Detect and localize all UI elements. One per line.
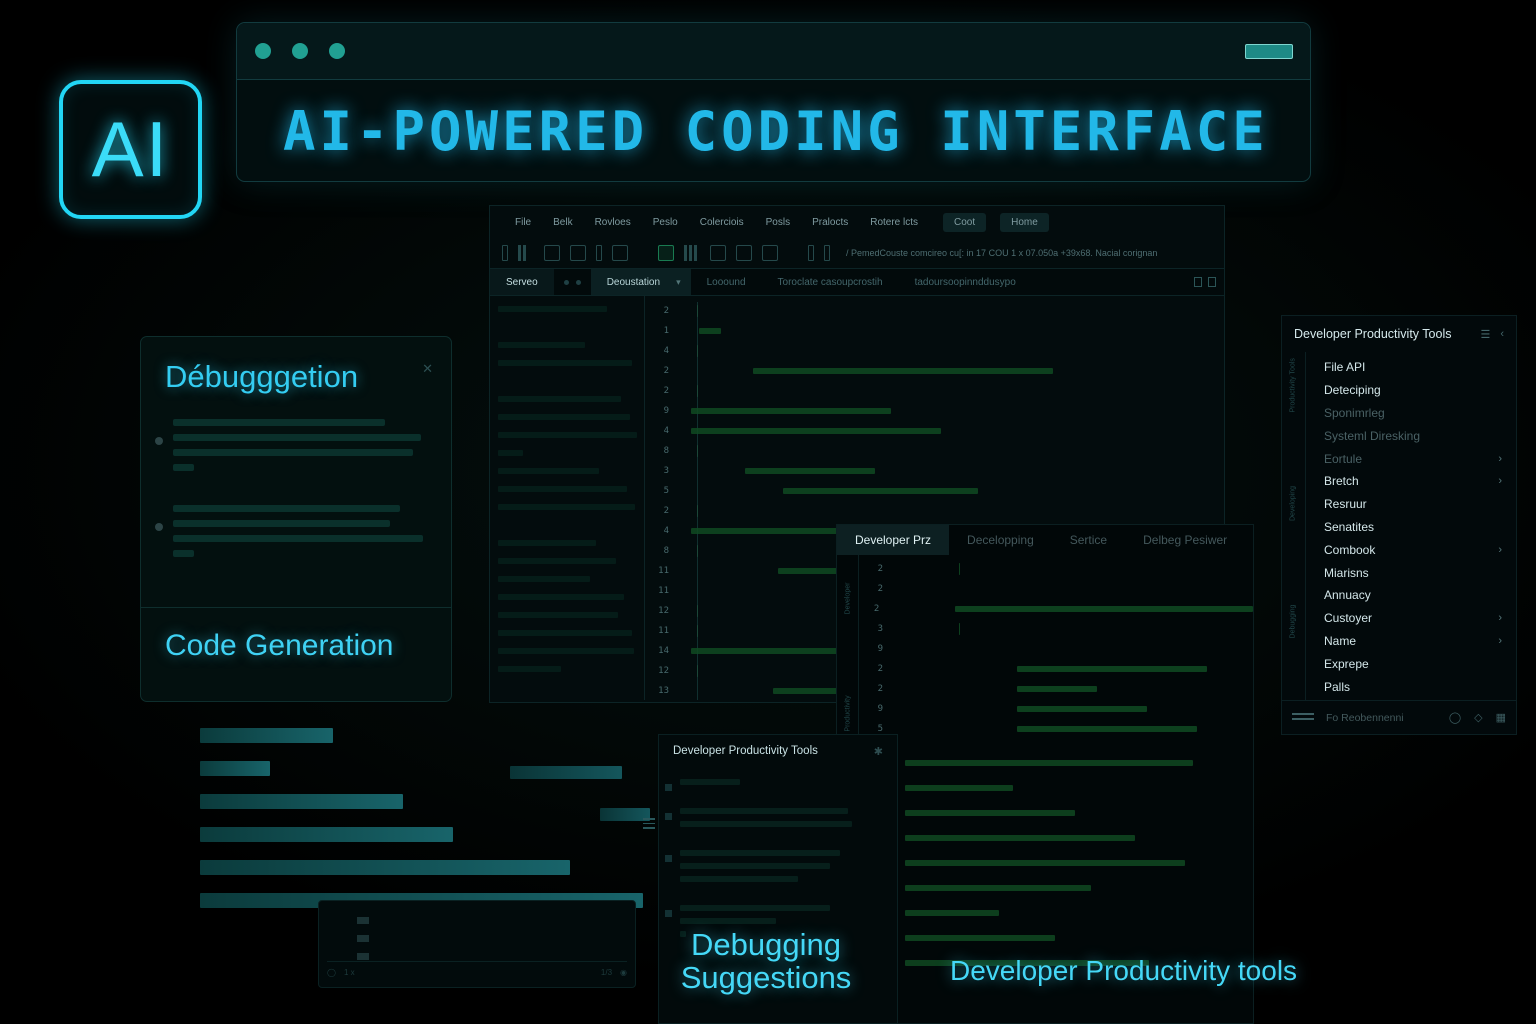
- suggestions-panel-header: Developer Productivity Tools ✱: [659, 735, 897, 767]
- feature-panel: Débugggetion ✕ Code Generation: [140, 336, 452, 702]
- code-line: 4: [645, 421, 1224, 441]
- text-line: [173, 419, 385, 426]
- chevron-right-icon: ›: [1498, 635, 1502, 647]
- line-number: 12: [645, 606, 683, 616]
- line-number: 5: [645, 486, 683, 496]
- line-number: 2: [645, 306, 683, 316]
- code-line: 2: [859, 599, 1253, 619]
- code-text: [697, 305, 698, 317]
- tools-item-7[interactable]: Senatites: [1306, 516, 1516, 539]
- list-item-lines: [173, 419, 431, 479]
- tree-line: [498, 558, 616, 564]
- tools-item-12[interactable]: Name›: [1306, 630, 1516, 653]
- circle-icon[interactable]: ◯: [1449, 711, 1461, 724]
- line-number: 2: [645, 386, 683, 396]
- tree-line: [498, 612, 618, 618]
- list-icon[interactable]: [612, 245, 628, 261]
- rail-label: Developing: [1290, 477, 1297, 531]
- code-line: 2: [645, 381, 1224, 401]
- code-text: [905, 810, 1075, 816]
- line-number: 11: [645, 626, 683, 636]
- tools-item-4[interactable]: Eortule›: [1306, 447, 1516, 470]
- tools-item-label: Deteciping: [1324, 383, 1381, 397]
- bullet-icon: [665, 910, 672, 917]
- tools-item-14[interactable]: Palls: [1306, 675, 1516, 698]
- tree-line: [498, 504, 635, 510]
- code-text: [905, 785, 1013, 791]
- tools-panel-header: Developer Productivity Tools ☰ ‹: [1282, 316, 1516, 352]
- text-line: [173, 550, 194, 557]
- tools-panel: Developer Productivity Tools ☰ ‹ Product…: [1281, 315, 1517, 735]
- toolbar-path: / PemedCouste comcireo cu[: in 17 COU 1 …: [846, 248, 1157, 258]
- editor-tab-3[interactable]: Toroclate casoupcrostih: [762, 269, 899, 295]
- tools-item-11[interactable]: Custoyer›: [1306, 607, 1516, 630]
- feature-panel-subtitle: Code Generation: [165, 629, 394, 663]
- tree-line: [498, 360, 632, 366]
- tools-item-9[interactable]: Miarisns: [1306, 561, 1516, 584]
- rail-label: Debugging: [1290, 595, 1297, 649]
- tree-line: [498, 432, 637, 438]
- code-text: [691, 408, 891, 414]
- list-marker: [357, 953, 369, 960]
- code-text: [753, 368, 1053, 374]
- bar-chart-bar: [510, 766, 622, 779]
- tree-line: [498, 342, 585, 348]
- tools-panel-title: Developer Productivity Tools: [1294, 327, 1451, 341]
- line-number: 9: [859, 644, 897, 654]
- document-icon[interactable]: [544, 245, 560, 261]
- code-line: 8: [645, 441, 1224, 461]
- code-text: [697, 625, 698, 637]
- ai-logo-text: AI: [92, 104, 170, 195]
- tree-line: [498, 666, 561, 672]
- code-text: [1017, 726, 1197, 732]
- list-item-lines: [680, 808, 887, 834]
- menu-item-rovloes[interactable]: Rovloes: [584, 213, 642, 232]
- code-line: 1: [645, 321, 1224, 341]
- tools-item-label: Resruur: [1324, 497, 1367, 511]
- code-line: 4: [645, 341, 1224, 361]
- code-text: [691, 428, 941, 434]
- image-icon[interactable]: [710, 245, 726, 261]
- menu-item-coot[interactable]: Coot: [943, 213, 986, 232]
- code-text: [1017, 666, 1207, 672]
- developer-tab-0[interactable]: Developer Prz: [837, 525, 949, 555]
- editor-tab-4[interactable]: tadoursoopinnddusypo: [899, 269, 1032, 295]
- code-line: 2: [859, 559, 1253, 579]
- text-line: [173, 464, 194, 471]
- table-icon[interactable]: [658, 245, 674, 261]
- text-line: [173, 434, 421, 441]
- text-line: [680, 779, 740, 785]
- code-text: [697, 505, 698, 517]
- code-line: 5: [859, 719, 1253, 739]
- code-text: [905, 860, 1185, 866]
- cloud-icon[interactable]: [808, 245, 814, 261]
- collapse-icon[interactable]: ‹: [1500, 328, 1504, 341]
- tab-dots: [554, 269, 591, 295]
- line-number: 8: [645, 446, 683, 456]
- layout-icon[interactable]: [1208, 277, 1216, 287]
- code-text: [905, 935, 1055, 941]
- traffic-light-maximize-icon[interactable]: [329, 43, 345, 59]
- line-number: 1: [645, 326, 683, 336]
- line-number: 9: [645, 406, 683, 416]
- text-line: [173, 535, 423, 542]
- feature-panel-header: Débugggetion ✕: [141, 337, 451, 395]
- tree-line: [498, 306, 607, 312]
- tools-item-label: Exprepe: [1324, 657, 1369, 671]
- list-item-lines: [173, 505, 431, 565]
- line-number: 5: [859, 724, 897, 734]
- cursor-icon[interactable]: [502, 245, 508, 261]
- tools-item-2[interactable]: Sponimrleg: [1306, 402, 1516, 425]
- bar-chart-bar: [200, 794, 403, 809]
- globe-icon[interactable]: [824, 245, 830, 261]
- title-window-body: AI-POWERED CODING INTERFACE: [237, 80, 1310, 182]
- page-value: 1/3: [601, 968, 612, 977]
- tools-item-8[interactable]: Combook›: [1306, 538, 1516, 561]
- tools-panel-rail: Productivity ToolsDevelopingDebugging: [1282, 352, 1306, 700]
- text-line: [680, 821, 852, 827]
- bar-chart-icon[interactable]: [762, 245, 778, 261]
- tools-item-label: Annuacy: [1324, 588, 1371, 602]
- suggestions-panel-title: Developer Productivity Tools: [673, 745, 818, 757]
- columns-icon[interactable]: [518, 245, 534, 261]
- editor-toolbar: / PemedCouste comcireo cu[: in 17 COU 1 …: [490, 238, 1224, 268]
- code-text: [1017, 706, 1147, 712]
- tools-item-label: Palls: [1324, 680, 1350, 694]
- line-number: 13: [645, 686, 683, 696]
- text-line: [680, 905, 830, 911]
- line-number: 14: [645, 646, 683, 656]
- ai-logo: AI: [59, 80, 202, 219]
- rail-label: Productivity Tools: [1290, 359, 1297, 413]
- close-icon[interactable]: ✕: [422, 361, 433, 377]
- diamond-icon[interactable]: ◇: [1474, 711, 1482, 724]
- tree-line: [498, 630, 632, 636]
- editor-tab-1[interactable]: Deoustation: [591, 269, 676, 295]
- bar-chart-bar: [200, 761, 270, 776]
- list-item: [665, 850, 887, 889]
- bullet-icon: [665, 855, 672, 862]
- editor-tab-0[interactable]: Serveo: [490, 269, 554, 295]
- code-line: 9: [645, 401, 1224, 421]
- tree-line: [498, 648, 634, 654]
- code-text: [697, 345, 698, 357]
- code-text: [955, 606, 1253, 612]
- preview-panel-statusbar: ◯ 1 x 1/3 ◉: [327, 961, 627, 979]
- menu-item-file[interactable]: File: [504, 213, 542, 232]
- menu-item-home[interactable]: Home: [1000, 213, 1049, 232]
- file-tree[interactable]: [490, 296, 645, 700]
- bullet-icon: [665, 813, 672, 820]
- line-number: 2: [859, 564, 897, 574]
- code-line: 2: [859, 679, 1253, 699]
- developer-tab-3[interactable]: Delbeg Pesiwer: [1125, 525, 1245, 555]
- tools-item-label: Eortule: [1324, 452, 1362, 466]
- menu-item-pralocts[interactable]: Pralocts: [801, 213, 859, 232]
- feature-panel-title: Débugggetion: [165, 359, 427, 395]
- developer-tab-1[interactable]: Decelopping: [949, 525, 1052, 555]
- chevron-down-icon[interactable]: ▾: [676, 269, 691, 295]
- list-item: [155, 419, 431, 479]
- code-line: 5: [645, 481, 1224, 501]
- bullet-icon: [665, 784, 672, 791]
- tools-panel-footer-label: Fo Reobennenni: [1326, 712, 1404, 724]
- editor-tabs: ServeoDeoustation▾LoooundToroclate casou…: [490, 268, 1224, 296]
- tools-item-5[interactable]: Bretch›: [1306, 470, 1516, 493]
- text-line: [173, 449, 413, 456]
- tools-item-0[interactable]: File API: [1306, 356, 1516, 379]
- list-item-lines: [680, 779, 887, 792]
- output-code-area: [905, 760, 1295, 970]
- bar-chart-secondary: [510, 740, 645, 800]
- list-item: [665, 779, 887, 792]
- code-text: [905, 910, 999, 916]
- lock-icon: ◯: [327, 968, 336, 977]
- menu-item-peslo[interactable]: Peslo: [642, 213, 689, 232]
- text-line: [680, 918, 776, 924]
- code-text: [697, 605, 698, 617]
- code-line: 2: [859, 579, 1253, 599]
- code-line: 2: [645, 361, 1224, 381]
- rail-label: Productivity: [845, 687, 852, 741]
- settings-icon[interactable]: ✱: [874, 745, 883, 758]
- menu-item-rotere-lcts[interactable]: Rotere lcts: [859, 213, 929, 232]
- text-line: [680, 808, 848, 814]
- code-line: 2: [645, 301, 1224, 321]
- divider: [141, 607, 451, 608]
- tools-item-label: Bretch: [1324, 474, 1359, 488]
- line-number: 2: [859, 684, 897, 694]
- tools-item-label: Name: [1324, 634, 1356, 648]
- tree-line: [498, 414, 630, 420]
- code-line: 3: [645, 461, 1224, 481]
- code-line: 9: [859, 639, 1253, 659]
- menu-item-belk[interactable]: Belk: [542, 213, 583, 232]
- list-marker: [357, 917, 369, 924]
- code-line: 2: [645, 501, 1224, 521]
- split-icon[interactable]: [1194, 277, 1202, 287]
- line-number: 11: [645, 566, 683, 576]
- line-number: 2: [859, 584, 897, 594]
- globe-icon: ◉: [620, 968, 627, 977]
- wand-icon[interactable]: [596, 245, 602, 261]
- bar-chart: [140, 712, 660, 890]
- tree-line: [498, 540, 596, 546]
- code-text: [959, 563, 960, 575]
- editor-tab-actions[interactable]: [1194, 269, 1224, 295]
- tools-item-label: Miarisns: [1324, 566, 1369, 580]
- line-number: 2: [859, 664, 897, 674]
- tree-line: [498, 468, 599, 474]
- line-number: 11: [645, 586, 683, 596]
- tools-item-label: Senatites: [1324, 520, 1374, 534]
- line-number: 2: [859, 604, 893, 614]
- tools-panel-list: File APIDetecipingSponimrlegSysteml Dire…: [1306, 352, 1516, 700]
- line-number: 3: [645, 466, 683, 476]
- code-text: [697, 665, 698, 677]
- menu-icon[interactable]: ☰: [1480, 328, 1490, 341]
- text-line: [680, 850, 840, 856]
- caption-debugging: Debugging Suggestions: [658, 928, 874, 995]
- code-text: [697, 545, 698, 557]
- line-number: 9: [859, 704, 897, 714]
- editor-menubar: FileBelkRovloesPesloColercioisPoslsPralo…: [490, 206, 1224, 238]
- bullet-icon: [155, 523, 163, 531]
- code-text: [905, 760, 1193, 766]
- code-text: [699, 328, 721, 334]
- list-item-lines: [680, 850, 887, 889]
- tools-item-3[interactable]: Systeml Diresking: [1306, 424, 1516, 447]
- tools-item-10[interactable]: Annuacy: [1306, 584, 1516, 607]
- line-number: 2: [645, 366, 683, 376]
- window-restore-button[interactable]: [1245, 44, 1293, 59]
- text-line: [173, 520, 390, 527]
- text-line: [680, 863, 830, 869]
- list-item: [155, 505, 431, 565]
- code-text: [959, 623, 960, 635]
- chart-columns-icon[interactable]: [684, 245, 700, 261]
- tools-item-label: File API: [1324, 360, 1365, 374]
- page-title: AI-POWERED CODING INTERFACE: [283, 100, 1269, 163]
- title-window: AI-POWERED CODING INTERFACE: [236, 22, 1311, 182]
- traffic-light-close-icon[interactable]: [255, 43, 271, 59]
- preview-panel: ◯ 1 x 1/3 ◉: [318, 900, 636, 988]
- window-icon[interactable]: ▦: [1496, 711, 1506, 724]
- tools-item-6[interactable]: Resruur: [1306, 493, 1516, 516]
- code-line: 9: [859, 699, 1253, 719]
- chevron-right-icon: ›: [1498, 475, 1502, 487]
- bar-chart-bar: [200, 827, 453, 842]
- developer-panel-tabs: Developer PrzDeceloppingSerticeDelbeg Pe…: [837, 525, 1253, 555]
- tools-item-label: Systeml Diresking: [1324, 429, 1420, 443]
- printer-icon[interactable]: [570, 245, 586, 261]
- line-number: 3: [859, 624, 897, 634]
- list-icon[interactable]: [1292, 713, 1314, 723]
- code-line: 2: [859, 659, 1253, 679]
- code-line: 3: [859, 619, 1253, 639]
- code-text: [697, 385, 698, 397]
- tree-line: [498, 396, 621, 402]
- menu-item-colerciois[interactable]: Colerciois: [689, 213, 755, 232]
- tree-line: [498, 594, 624, 600]
- rail-label: Developer: [845, 572, 852, 626]
- code-text: [783, 488, 978, 494]
- code-text: [697, 445, 698, 457]
- feature-panel-list: [141, 395, 451, 565]
- code-text: [905, 885, 1091, 891]
- bullet-icon: [155, 437, 163, 445]
- text-line: [680, 876, 798, 882]
- editor-tab-2[interactable]: Looound: [691, 269, 762, 295]
- text-line: [173, 505, 400, 512]
- zoom-value: 1 x: [344, 968, 355, 977]
- tools-panel-body: Productivity ToolsDevelopingDebugging Fi…: [1282, 352, 1516, 700]
- tree-line: [498, 486, 627, 492]
- page-icon[interactable]: [736, 245, 752, 261]
- code-text: [905, 835, 1135, 841]
- line-number: 4: [645, 426, 683, 436]
- traffic-light-minimize-icon[interactable]: [292, 43, 308, 59]
- line-number: 4: [645, 526, 683, 536]
- tools-item-label: Combook: [1324, 543, 1375, 557]
- tools-item-1[interactable]: Deteciping: [1306, 379, 1516, 402]
- line-number: 4: [645, 346, 683, 356]
- code-text: [1017, 686, 1097, 692]
- chevron-right-icon: ›: [1498, 612, 1502, 624]
- line-number: 12: [645, 666, 683, 676]
- suggestions-panel-list: [659, 767, 897, 944]
- chevron-right-icon: ›: [1498, 544, 1502, 556]
- bar-chart-bar: [200, 728, 333, 743]
- tree-line: [498, 450, 523, 456]
- line-number: 2: [645, 506, 683, 516]
- tools-item-label: Sponimrleg: [1324, 406, 1385, 420]
- list-marker: [357, 935, 369, 942]
- tree-line: [498, 576, 590, 582]
- line-number: 8: [645, 546, 683, 556]
- developer-tab-2[interactable]: Sertice: [1052, 525, 1125, 555]
- tools-item-label: Custoyer: [1324, 611, 1372, 625]
- indent-guide: [697, 302, 698, 700]
- tools-panel-footer: Fo Reobennenni ◯ ◇ ▦: [1282, 700, 1516, 734]
- tools-item-13[interactable]: Exprepe: [1306, 652, 1516, 675]
- bar-chart-bar: [200, 860, 570, 875]
- code-text: [745, 468, 875, 474]
- caption-devtools: Developer Productivity tools: [950, 956, 1330, 986]
- menu-item-posls[interactable]: Posls: [755, 213, 801, 232]
- menu-icon[interactable]: [643, 818, 655, 832]
- list-item: [665, 808, 887, 834]
- title-window-titlebar: [237, 23, 1310, 80]
- chevron-right-icon: ›: [1498, 453, 1502, 465]
